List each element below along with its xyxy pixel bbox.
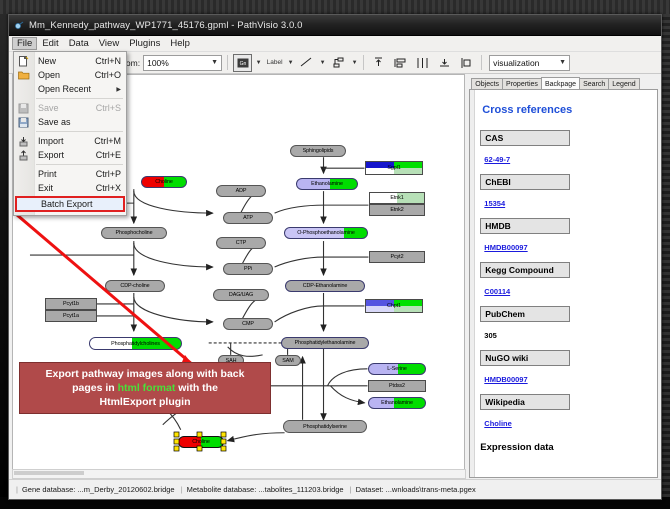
pathvisio-icon	[13, 19, 25, 31]
tab-objects[interactable]: Objects	[471, 78, 503, 89]
bezel-top	[0, 0, 670, 14]
backpage-content: Cross references CAS 62-49-7 ChEBI 15354…	[469, 89, 658, 478]
xref-header-chebi: ChEBI	[480, 174, 570, 190]
xref-value-cas[interactable]: 62-49-7	[484, 155, 510, 164]
menu-item-open-label: Open	[38, 70, 95, 80]
tab-search[interactable]: Search	[579, 78, 609, 89]
menu-item-batch-export-label: Batch Export	[41, 199, 118, 209]
xref-value-wikipedia[interactable]: Choline	[484, 419, 512, 428]
menu-item-import-accel: Ctrl+M	[94, 136, 121, 146]
menu-item-batch-export[interactable]: Batch Export	[15, 196, 125, 212]
menu-item-save-as-label: Save as	[38, 117, 121, 127]
menu-item-save-as[interactable]: Save as	[14, 115, 126, 129]
toolbar-separator-3	[481, 55, 482, 70]
tab-properties[interactable]: Properties	[502, 78, 542, 89]
align-top-icon[interactable]	[369, 54, 388, 72]
menu-item-export-label: Export	[38, 150, 96, 160]
menu-edit[interactable]: Edit	[37, 37, 63, 50]
callout-highlight: html format	[118, 382, 176, 394]
tab-backpage[interactable]: Backpage	[541, 77, 580, 89]
status-dataset-label: Dataset:	[356, 485, 384, 494]
menu-item-new[interactable]: New Ctrl+N	[14, 54, 126, 68]
interaction-dropdown-arrow-icon[interactable]: ▼	[351, 60, 358, 66]
window-title: Mm_Kennedy_pathway_WP1771_45176.gpml - P…	[29, 20, 303, 31]
menu-file[interactable]: File	[12, 37, 37, 50]
group-icon[interactable]	[457, 54, 476, 72]
menu-item-export-accel: Ctrl+E	[96, 150, 121, 160]
callout-line-2: pages in html format with the	[26, 381, 264, 395]
menu-separator-2	[36, 131, 123, 132]
menu-item-print-label: Print	[38, 169, 96, 179]
menubar: File Edit Data View Plugins Help	[9, 36, 661, 52]
xref-header-wikipedia: Wikipedia	[480, 394, 570, 410]
menu-item-open-recent[interactable]: Open Recent ▶	[14, 82, 126, 96]
menu-item-exit-accel: Ctrl+X	[96, 183, 121, 193]
xref-value-pubchem: 305	[484, 331, 497, 340]
xref-header-nugo-wiki: NuGO wiki	[480, 350, 570, 366]
screenshot-root: Mm_Kennedy_pathway_WP1771_45176.gpml - P…	[0, 0, 670, 509]
status-text: |Gene database: ...m_Derby_20120602.brid…	[12, 485, 476, 494]
status-gene-database-label: Gene database:	[22, 485, 75, 494]
datanode-dropdown-arrow-icon[interactable]: ▼	[255, 60, 262, 66]
xref-value-hmdb[interactable]: HMDB00097	[484, 243, 527, 252]
interaction-tool-icon[interactable]	[329, 54, 348, 72]
save-disk-icon	[17, 102, 30, 114]
side-panel: Objects Properties Backpage Search Legen…	[466, 74, 659, 478]
menu-item-print-accel: Ctrl+P	[96, 169, 121, 179]
menu-item-save-accel: Ctrl+S	[96, 103, 121, 113]
menu-item-save: Save Ctrl+S	[14, 101, 126, 115]
menu-item-open[interactable]: Open Ctrl+O	[14, 68, 126, 82]
menu-item-import[interactable]: Import Ctrl+M	[14, 134, 126, 148]
menu-item-new-label: New	[38, 56, 95, 66]
panel-scrollbar[interactable]	[470, 90, 475, 477]
xref-value-chebi[interactable]: 15354	[484, 199, 505, 208]
export-icon	[17, 149, 30, 161]
status-gene-database-value: ...m_Derby_20120602.bridge	[77, 485, 174, 494]
xref-header-kegg-compound: Kegg Compound	[480, 262, 570, 278]
zoom-value: 100%	[147, 58, 169, 68]
xref-header-hmdb: HMDB	[480, 218, 570, 234]
import-icon	[17, 135, 30, 147]
datanode-tool-icon[interactable]: Gn	[233, 54, 252, 72]
toolbar-separator-2	[363, 55, 364, 70]
cross-references-title: Cross references	[482, 104, 649, 116]
save-as-icon	[17, 116, 30, 128]
callout-line-3: HtmlExport plugin	[26, 395, 264, 409]
toolbar-separator	[227, 55, 228, 70]
status-metabolite-database-label: Metabolite database:	[187, 485, 257, 494]
menu-item-import-label: Import	[38, 136, 94, 146]
window-titlebar: Mm_Kennedy_pathway_WP1771_45176.gpml - P…	[9, 15, 661, 36]
new-document-icon	[17, 55, 30, 67]
menu-item-export[interactable]: Export Ctrl+E	[14, 148, 126, 162]
align-left-icon[interactable]	[391, 54, 410, 72]
chevron-down-icon: ▼	[210, 59, 219, 66]
tab-legend[interactable]: Legend	[608, 78, 639, 89]
menu-item-open-accel: Ctrl+O	[95, 70, 121, 80]
menu-view[interactable]: View	[94, 37, 124, 50]
line-tool-icon[interactable]	[297, 54, 316, 72]
svg-text:Gn: Gn	[239, 61, 246, 67]
callout-line-2-b: with the	[175, 382, 218, 394]
expression-data-title: Expression data	[480, 442, 649, 453]
align-rows-icon[interactable]	[413, 54, 432, 72]
menu-item-open-recent-label: Open Recent	[38, 84, 116, 94]
status-dataset-value: ...wnloads\trans-meta.pgex	[386, 485, 476, 494]
xref-header-cas: CAS	[480, 130, 570, 146]
pathvisio-window: Mm_Kennedy_pathway_WP1771_45176.gpml - P…	[8, 14, 662, 500]
annotation-callout: Export pathway images along with back pa…	[19, 362, 271, 414]
line-dropdown-arrow-icon[interactable]: ▼	[319, 60, 326, 66]
menu-item-exit-label: Exit	[38, 183, 96, 193]
xref-header-pubchem: PubChem	[480, 306, 570, 322]
align-columns-icon[interactable]	[435, 54, 454, 72]
submenu-arrow-icon: ▶	[116, 86, 121, 93]
xref-value-kegg-compound[interactable]: C00114	[484, 287, 510, 296]
menu-item-exit[interactable]: Exit Ctrl+X	[14, 181, 126, 195]
open-folder-icon	[17, 69, 30, 81]
callout-line-2-a: pages in	[72, 382, 118, 394]
chevron-down-icon-2: ▼	[558, 59, 567, 66]
menu-separator-1	[36, 98, 123, 99]
menu-item-save-label: Save	[38, 103, 96, 113]
status-metabolite-database-value: ...tabolites_111203.bridge	[258, 485, 343, 494]
menu-data[interactable]: Data	[64, 37, 94, 50]
xref-value-nugo-wiki[interactable]: HMDB00097	[484, 375, 527, 384]
callout-line-1: Export pathway images along with back	[26, 367, 264, 381]
side-panel-tabs: Objects Properties Backpage Search Legen…	[466, 74, 659, 89]
menu-plugins[interactable]: Plugins	[124, 37, 165, 50]
zoom-combobox[interactable]: 100% ▼	[143, 55, 222, 71]
label-dropdown-arrow-icon[interactable]: ▼	[287, 60, 294, 66]
menu-help[interactable]: Help	[165, 37, 195, 50]
menu-item-print[interactable]: Print Ctrl+P	[14, 167, 126, 181]
visualization-value: visualization	[493, 58, 539, 68]
file-menu-dropdown[interactable]: New Ctrl+N Open Ctrl+O Open Recent ▶ Sav…	[13, 51, 127, 216]
label-tool-icon[interactable]: Label	[265, 54, 284, 72]
visualization-combobox[interactable]: visualization ▼	[489, 55, 570, 71]
menu-item-new-accel: Ctrl+N	[95, 56, 121, 66]
menu-separator-3	[36, 164, 123, 165]
